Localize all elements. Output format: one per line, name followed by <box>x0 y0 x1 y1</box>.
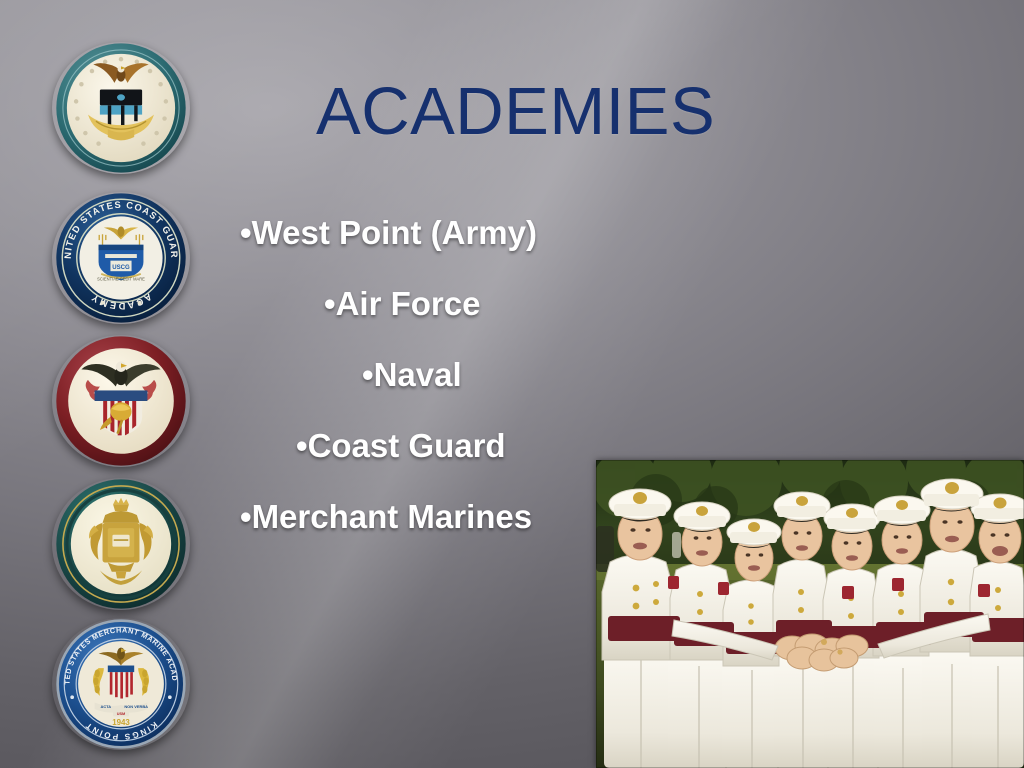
list-item-label: Naval <box>374 356 462 393</box>
list-item: •West Point (Army) <box>240 216 604 249</box>
bullet-marker: • <box>240 214 252 251</box>
list-item-label: Air Force <box>336 285 481 322</box>
bullet-marker: • <box>362 356 374 393</box>
coast-guard-academy-seal: UNITED STATES COAST GUARD ACADEMY USCG <box>52 192 190 324</box>
coast-guard-academy-seal-graphic: UNITED STATES COAST GUARD ACADEMY USCG <box>52 192 190 324</box>
list-item: •Merchant Marines <box>240 500 604 533</box>
academy-bullet-list: •West Point (Army) •Air Force •Naval •Co… <box>232 216 604 571</box>
cadets-group-photo <box>596 460 1024 768</box>
list-item-label: West Point (Army) <box>252 214 537 251</box>
page-title: ACADEMIES <box>316 78 715 145</box>
air-force-academy-seal <box>52 42 190 174</box>
list-item: •Air Force <box>324 287 604 320</box>
bullet-marker: • <box>240 498 252 535</box>
svg-text:USCG: USCG <box>112 265 130 271</box>
svg-text:USM: USM <box>117 712 125 716</box>
naval-academy-seal-graphic <box>52 478 190 610</box>
slide-canvas: UNITED STATES COAST GUARD ACADEMY USCG <box>0 0 1024 768</box>
list-item: •Naval <box>362 358 604 391</box>
svg-text:NON VERBA: NON VERBA <box>124 704 148 709</box>
list-item: •Coast Guard <box>296 429 604 462</box>
svg-text:SCIENTIAE CEDIT MARE: SCIENTIAE CEDIT MARE <box>97 276 145 281</box>
cadets-group-photo-graphic <box>596 460 1024 768</box>
svg-text:1943: 1943 <box>112 718 130 727</box>
west-point-academy-seal-graphic <box>52 335 190 467</box>
merchant-marine-academy-seal: UNITED STATES MERCHANT MARINE ACADEMY KI… <box>52 618 190 750</box>
list-item-label: Merchant Marines <box>252 498 533 535</box>
bullet-marker: • <box>296 427 308 464</box>
air-force-academy-seal-graphic <box>52 42 190 174</box>
bullet-marker: • <box>324 285 336 322</box>
svg-text:ACTA: ACTA <box>100 704 111 709</box>
merchant-marine-academy-seal-graphic: UNITED STATES MERCHANT MARINE ACADEMY KI… <box>52 618 190 750</box>
west-point-academy-seal <box>52 335 190 467</box>
list-item-label: Coast Guard <box>308 427 506 464</box>
naval-academy-seal <box>52 478 190 610</box>
